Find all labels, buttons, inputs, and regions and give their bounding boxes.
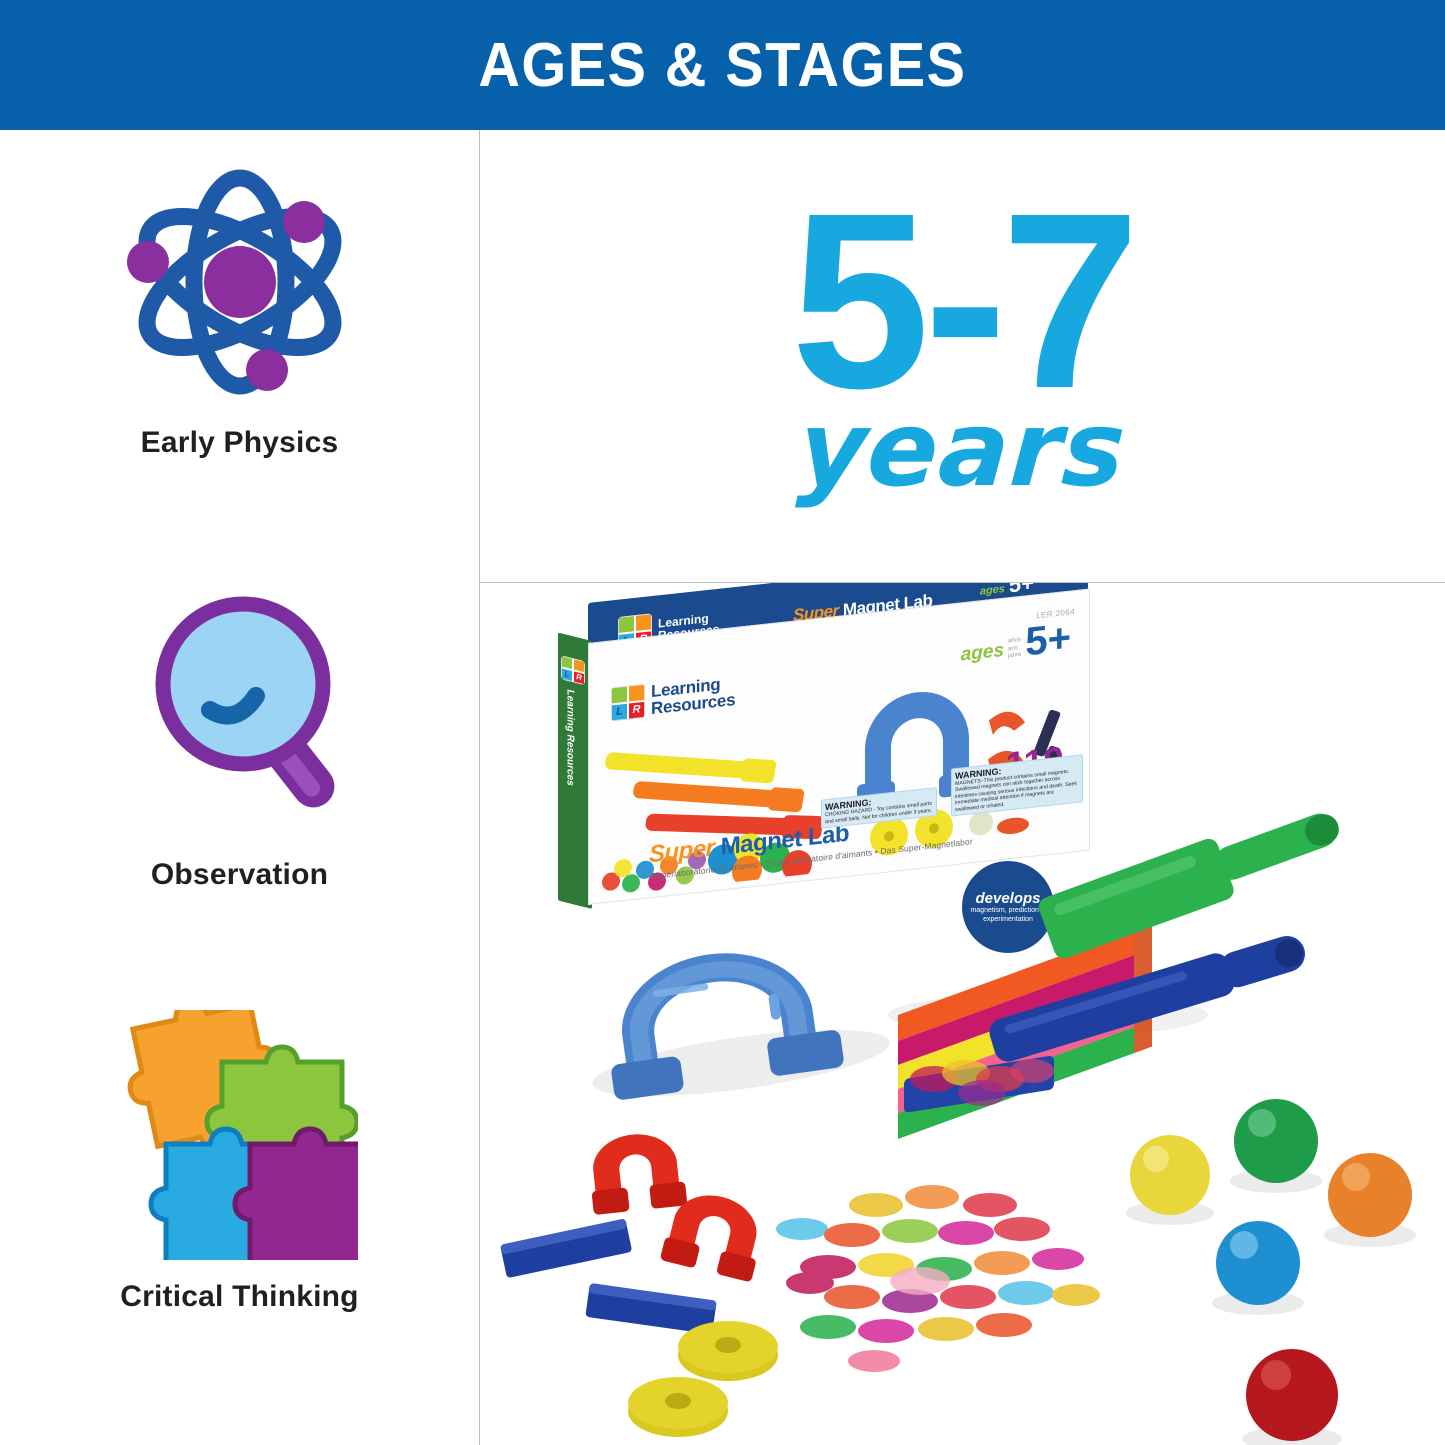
age-callout-panel: 5-7 years	[480, 130, 1445, 582]
side-brand-line1: Learning	[565, 688, 576, 733]
feature-observation: Observation	[0, 592, 479, 892]
marble-green	[1230, 1099, 1322, 1193]
lid-ages-word: ages	[980, 583, 1005, 598]
marble-blue	[1212, 1221, 1304, 1315]
blue-magnet-wand	[986, 928, 1311, 1065]
age-range: 5-7	[791, 198, 1134, 403]
side-brand-cube-icon: L R	[561, 655, 585, 685]
feature-rail: Early Physics Observation	[0, 130, 479, 1445]
develops-body: magnetism, prediction & experimentation	[962, 907, 1054, 925]
chips-on-bar	[904, 1055, 1054, 1113]
feature-label: Critical Thinking	[120, 1279, 358, 1314]
age-unit-label: years	[796, 397, 1130, 501]
feature-label: Early Physics	[141, 425, 339, 460]
red-u-magnet	[660, 1186, 770, 1282]
atom-icon	[122, 158, 358, 411]
product-box: L R Learning Resources Super Magnet Lab …	[558, 603, 1088, 933]
blue-bar-magnet	[585, 1283, 716, 1334]
product-title-super: Super	[649, 834, 715, 868]
counting-chips-pile	[776, 1185, 1100, 1372]
lid-ages-value: 5+	[1009, 583, 1034, 595]
horseshoe-magnet	[577, 931, 893, 1109]
magnifying-glass-icon	[135, 592, 345, 843]
side-brand-letter-l: L	[562, 669, 572, 681]
marble-red	[1242, 1349, 1342, 1445]
ring-magnet	[678, 1321, 778, 1381]
box-front-panel: L R Learning Resources LER 2064 ages año…	[588, 588, 1090, 905]
develops-badge: develops magnetism, prediction & experim…	[962, 861, 1054, 953]
bar-magnet-stack	[888, 923, 1208, 1139]
side-brand-letter-r: R	[574, 672, 584, 684]
feature-label: Observation	[151, 857, 328, 892]
develops-word: develops	[975, 890, 1040, 907]
product-photo-panel: L R Learning Resources Super Magnet Lab …	[480, 583, 1445, 1445]
red-u-magnet	[586, 1130, 687, 1215]
feature-critical-thinking: Critical Thinking	[0, 1010, 479, 1314]
side-brand-line2: Resources	[565, 733, 576, 787]
puzzle-pieces-icon	[122, 1010, 358, 1265]
feature-early-physics: Early Physics	[0, 158, 479, 460]
ages-and-stages-infographic: AGES & STAGES Early Physics	[0, 0, 1445, 1445]
blue-bar-magnet	[500, 1218, 632, 1278]
marble-orange	[1324, 1153, 1416, 1247]
ring-magnet	[628, 1377, 728, 1437]
box-side-panel: L R Learning Resources	[558, 633, 592, 909]
marble-yellow	[1126, 1135, 1214, 1225]
header-banner: AGES & STAGES	[0, 0, 1445, 130]
page-title: AGES & STAGES	[478, 30, 966, 101]
